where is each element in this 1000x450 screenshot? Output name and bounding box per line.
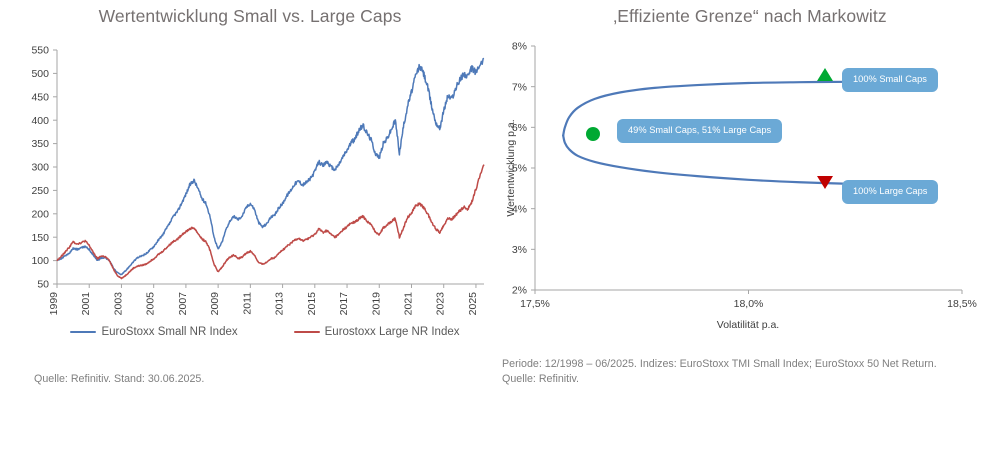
marker-minimum-variance-portfolio [586,127,600,141]
y-tick-label: 400 [31,115,49,127]
x-tick-label: 2003 [112,292,124,316]
x-tick-label: 2017 [338,292,350,316]
x-tick-label: 2009 [209,292,221,316]
right-chart-source-note: Periode: 12/1998 – 06/2025. Indizes: Eur… [502,357,992,387]
x-tick-label: 2007 [177,292,189,316]
x-tick-label: 2011 [241,292,253,315]
left-chart-title: Wertentwicklung Small vs. Large Caps [0,6,500,27]
legend-label-large-caps: Eurostoxx Large NR Index [325,326,460,338]
callout-100-large-caps: 100% Large Caps [842,180,938,204]
y-tick-label: 350 [31,138,49,150]
y-tick-label: 150 [31,232,49,244]
x-tick-label: 2025 [467,292,479,316]
y-tick-label: 300 [31,162,49,174]
y-tick-label: 3% [512,244,527,256]
y-tick-label: 8% [512,41,527,53]
y-tick-label: 50 [37,279,49,291]
x-tick-label: 2023 [435,292,447,316]
y-axis: 50100150200250300350400450500550 [31,45,57,291]
x-tick-label: 2019 [370,292,382,316]
legend-label-small-caps: EuroStoxx Small NR Index [101,326,237,338]
y-tick-label: 100 [31,255,49,267]
x-tick-label: 1999 [48,292,60,316]
x-tick-label: 2005 [145,292,157,316]
x-axis-title: Volatilität p.a. [717,319,779,331]
legend-swatch-small-caps [70,331,96,334]
y-tick-label: 200 [31,208,49,220]
legend-item-small-caps[interactable]: EuroStoxx Small NR Index [70,326,237,338]
legend-item-large-caps[interactable]: Eurostoxx Large NR Index [294,326,460,338]
marker-100-large-caps [817,176,833,189]
x-tick-label: 2015 [306,292,318,316]
performance-line-chart: 50100150200250300350400450500550 1999200… [0,40,500,330]
y-tick-label: 2% [512,285,527,297]
x-tick-label: 2021 [402,292,414,316]
left-chart-source-note: Quelle: Refinitiv. Stand: 30.06.2025. [34,372,204,387]
left-chart-legend: EuroStoxx Small NR Index Eurostoxx Large… [40,326,490,338]
x-axis: 17,5%18,0%18,5% Volatilität p.a. [520,290,977,331]
left-chart-panel: Wertentwicklung Small vs. Large Caps 501… [0,0,500,450]
marker-100-small-caps [817,68,833,81]
x-axis: 1999200120032005200720092011201320152017… [48,284,484,315]
x-tick-label: 18,5% [947,298,977,310]
x-tick-label: 2001 [80,292,92,316]
y-axis-title: Wertentwicklung p.a. [505,119,517,216]
y-tick-label: 550 [31,45,49,57]
y-axis: 2%3%4%5%6%7%8% Wertentwicklung p.a. [505,41,535,297]
y-tick-label: 450 [31,91,49,103]
y-tick-label: 500 [31,68,49,80]
y-tick-label: 250 [31,185,49,197]
x-tick-label: 2013 [274,292,286,316]
legend-swatch-large-caps [294,331,320,334]
series-lines [57,58,484,278]
callout-mixed-portfolio: 49% Small Caps, 51% Large Caps [617,119,782,143]
series-line-large-caps [57,165,484,279]
x-tick-label: 17,5% [520,298,550,310]
series-line-small-caps [57,58,484,274]
right-chart-title: ‚Effiziente Grenze“ nach Markowitz [500,6,1000,27]
callout-100-small-caps: 100% Small Caps [842,68,938,92]
x-tick-label: 18,0% [734,298,764,310]
y-tick-label: 7% [512,81,527,93]
